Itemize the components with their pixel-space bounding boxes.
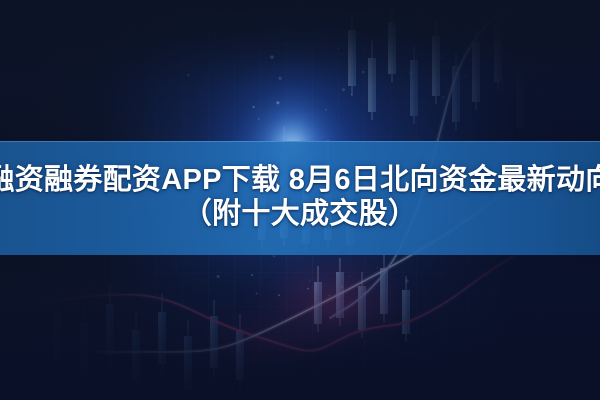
- headline-band-top-edge: [0, 141, 600, 142]
- headline-line-1: 融资融券配资APP下载 8月6日北向资金最新动向: [0, 164, 600, 198]
- financial-news-banner: 融资融券配资APP下载 8月6日北向资金最新动向 （附十大成交股）: [0, 0, 600, 400]
- headline-band: 融资融券配资APP下载 8月6日北向资金最新动向 （附十大成交股）: [0, 141, 600, 255]
- headline-line-2: （附十大成交股）: [183, 198, 417, 232]
